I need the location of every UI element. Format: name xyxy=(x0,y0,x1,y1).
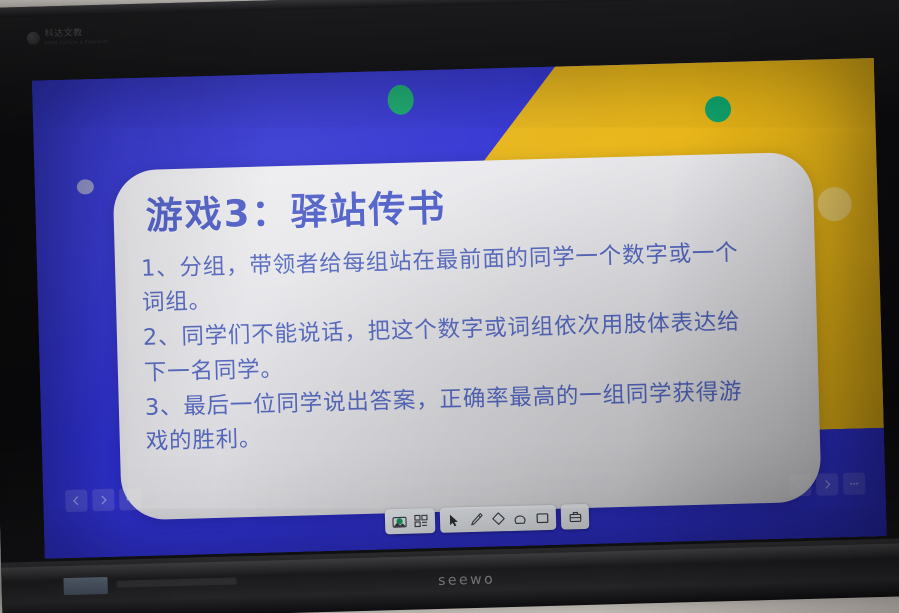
slide-rules-list: 1、分组，带领者给每组站在最前面的同学一个数字或一个词组。 2、同学们不能说话，… xyxy=(141,236,746,460)
nav-more-button-left[interactable] xyxy=(119,488,142,511)
nav-prev-button-left[interactable] xyxy=(65,489,88,512)
toolbar-group-annotation[interactable] xyxy=(440,505,557,533)
slide-title: 游戏3：驿站传书 xyxy=(145,178,447,240)
logo-chinese-name: 科达文教 xyxy=(45,29,110,40)
nav-prev-button-right[interactable] xyxy=(789,474,812,497)
decorative-pale-dot-left xyxy=(77,179,94,194)
toolbox-icon[interactable] xyxy=(565,507,586,527)
display-screen[interactable]: 游戏3：驿站传书 1、分组，带领者给每组站在最前面的同学一个数字或一个词组。 2… xyxy=(32,58,887,559)
manufacturer-logo: 科达文教 KEDA Culture & Education xyxy=(27,29,110,46)
toolbar-group-extra[interactable] xyxy=(561,504,590,530)
nav-next-button-right[interactable] xyxy=(816,473,839,496)
interactive-flat-panel-display: 科达文教 KEDA Culture & Education 游戏3：驿站传书 1… xyxy=(0,0,899,613)
annotation-toolbar[interactable] xyxy=(385,504,590,535)
pen-icon[interactable] xyxy=(466,510,487,530)
decorative-green-dot-top xyxy=(387,84,414,115)
photo-stage: 科达文教 KEDA Culture & Education 游戏3：驿站传书 1… xyxy=(0,0,899,613)
presentation-slide: 游戏3：驿站传书 1、分组，带领者给每组站在最前面的同学一个数字或一个词组。 2… xyxy=(32,58,887,559)
onscreen-nav-right[interactable] xyxy=(789,472,866,496)
logo-mark-icon xyxy=(27,32,40,45)
presentation-globe-icon[interactable] xyxy=(389,512,410,532)
nav-more-button-right[interactable] xyxy=(843,472,866,495)
rectangle-icon[interactable] xyxy=(532,508,553,528)
eraser-icon[interactable] xyxy=(488,509,509,529)
nav-next-button-left[interactable] xyxy=(92,489,115,512)
lasso-icon[interactable] xyxy=(510,508,531,528)
cursor-arrow-icon[interactable] xyxy=(444,510,465,530)
onscreen-nav-left[interactable] xyxy=(65,488,142,512)
logo-text: 科达文教 KEDA Culture & Education xyxy=(45,29,110,46)
toolbar-group-app[interactable] xyxy=(385,508,436,534)
grid-layout-icon[interactable] xyxy=(411,511,432,531)
